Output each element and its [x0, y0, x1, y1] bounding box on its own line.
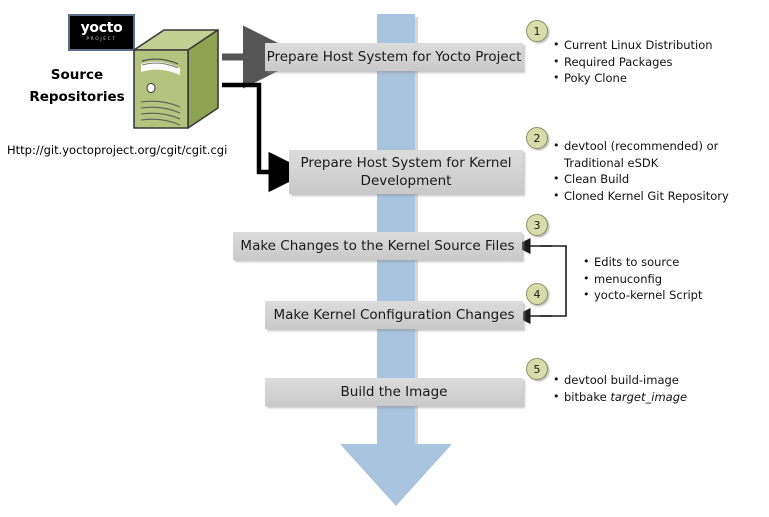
annotation-34-bullet-3: yocto-kernel Script	[594, 287, 761, 304]
annotation-5-bullet-2-text: bitbake	[564, 390, 610, 404]
process-box-make-source-changes[interactable]: Make Changes to the Kernel Source Files	[233, 232, 522, 260]
annotation-5-bullet-2-italic: target_image	[610, 390, 687, 404]
process-box-4-label: Make Kernel Configuration Changes	[273, 306, 514, 324]
step-badge-1-number: 1	[534, 25, 541, 38]
step-badge-3-number: 3	[534, 219, 541, 232]
annotation-2-bullet-1: devtool (recommended) or Traditional eSD…	[564, 138, 766, 171]
process-box-5-label: Build the Image	[341, 383, 448, 401]
annotation-steps-3-and-4: Edits to source menuconfig yocto-kernel …	[581, 254, 761, 304]
process-box-2-line-1: Prepare Host System for Kernel	[300, 155, 511, 171]
diagram-canvas: yocto PROJECT Source Repositories Http:/…	[0, 0, 769, 517]
step-badge-3: 3	[526, 214, 548, 236]
annotation-2-bullet-2: Clean Build	[564, 171, 766, 188]
step-badge-2-number: 2	[534, 132, 541, 145]
process-box-2-line-2: Development	[361, 173, 452, 189]
process-box-make-config-changes[interactable]: Make Kernel Configuration Changes	[265, 301, 523, 329]
annotation-1-bullet-3: Poky Clone	[564, 70, 763, 87]
annotation-1-bullet-2: Required Packages	[564, 54, 763, 71]
process-box-build-image[interactable]: Build the Image	[265, 378, 523, 406]
step-badge-5: 5	[526, 358, 548, 380]
annotation-5-bullet-1-text: devtool build-image	[564, 373, 679, 387]
annotation-step-2: devtool (recommended) or Traditional eSD…	[551, 138, 766, 204]
annotation-34-bullet-2: menuconfig	[594, 271, 761, 288]
annotation-step-5: devtool build-image bitbake target_image	[551, 372, 751, 405]
annotation-1-bullet-1: Current Linux Distribution	[564, 37, 763, 54]
annotation-2-bullet-3: Cloned Kernel Git Repository	[564, 188, 766, 205]
step-badge-5-number: 5	[534, 363, 541, 376]
annotation-step-1: Current Linux Distribution Required Pack…	[551, 37, 763, 87]
annotation-34-bullet-1: Edits to source	[594, 254, 761, 271]
annotation-5-bullet-2: bitbake target_image	[564, 389, 751, 406]
step-badge-2: 2	[526, 127, 548, 149]
process-box-1-label: Prepare Host System for Yocto Project	[267, 48, 522, 66]
annotation-5-bullet-1: devtool build-image	[564, 372, 751, 389]
process-box-prepare-host-yocto[interactable]: Prepare Host System for Yocto Project	[265, 43, 523, 71]
process-box-prepare-host-kernel[interactable]: Prepare Host System for Kernel Developme…	[289, 150, 523, 194]
step-badge-4-number: 4	[534, 288, 541, 301]
process-box-2-label: Prepare Host System for Kernel Developme…	[300, 154, 511, 190]
step-badge-4: 4	[526, 283, 548, 305]
step-badge-1: 1	[526, 20, 548, 42]
process-box-3-label: Make Changes to the Kernel Source Files	[240, 237, 514, 255]
